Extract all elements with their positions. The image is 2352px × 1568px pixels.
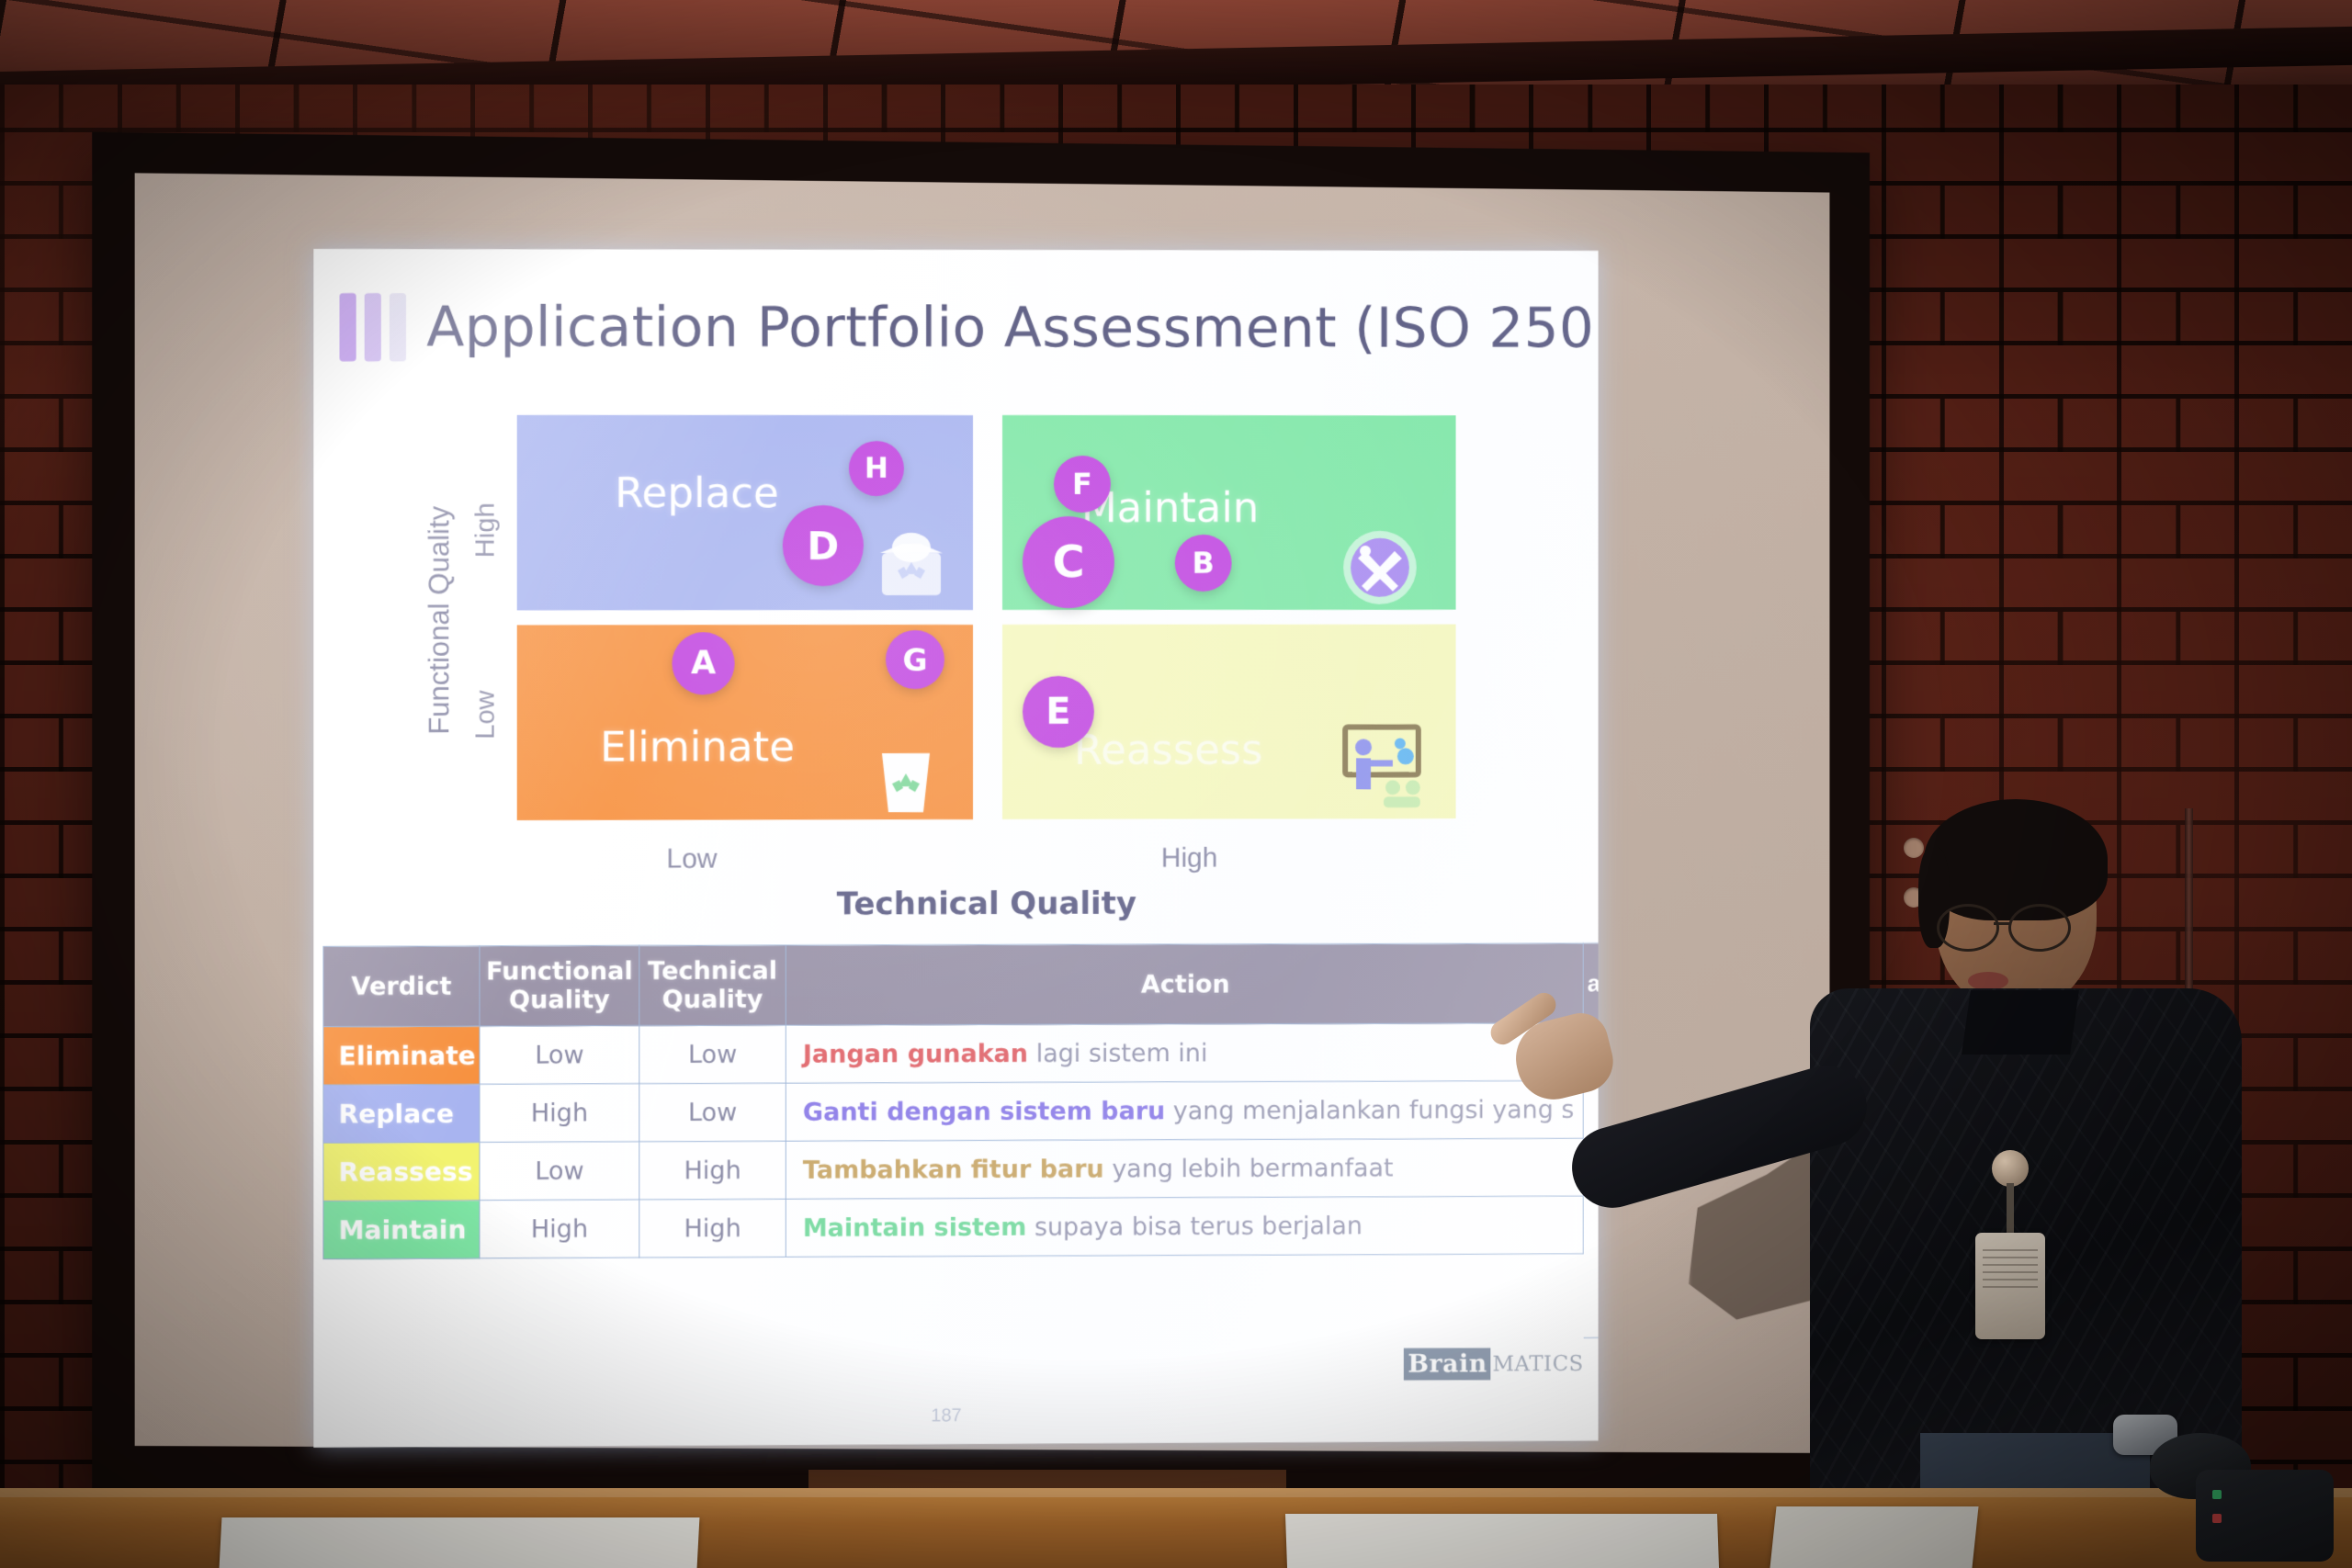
table-row: Reassess Low High Tambahkan fitur baru y… [323,1138,1583,1201]
id-badge [1975,1233,2045,1339]
presenter-hair [1924,799,2108,920]
presenter-collar [1962,990,2079,1055]
quadrant-label-replace: Replace [615,468,779,517]
cell-technical: Low [639,1083,786,1142]
tools-icon [1341,529,1419,606]
col-header-technical-quality: Technical Quality [639,945,786,1026]
portfolio-matrix: Functional Quality High Low Replace H D [517,415,1454,829]
cell-technical: Low [639,1025,786,1084]
cell-action: Maintain sistem supaya bisa terus berjal… [786,1196,1583,1257]
y-axis-tick-high: High [465,452,505,609]
x-axis-ticks: Low High [517,842,1454,844]
paper-sheet [220,1517,700,1568]
y-axis-tick-low: Low [465,645,505,783]
quadrant-label-eliminate: Eliminate [600,722,795,771]
cell-action: Ganti dengan sistem baru yang menjalanka… [786,1080,1583,1141]
quadrant-reassess[interactable]: Reassess E [1002,625,1456,819]
quadrant-label-reassess: Reassess [1074,726,1263,774]
x-axis-tick-low: Low [666,844,717,875]
presentation-slide[interactable]: Application Portfolio Assessment (ISO 25… [313,249,1598,1448]
presenter-mouth [1968,972,2008,990]
projection-screen-surface: Application Portfolio Assessment (ISO 25… [135,173,1830,1453]
cell-action: Tambahkan fitur baru yang lebih bermanfa… [786,1138,1583,1199]
col-header-functional-quality: Functional Quality [480,945,639,1026]
cell-technical: High [639,1199,786,1258]
logo-bars-icon [340,293,406,361]
x-axis-tick-high: High [1161,843,1218,874]
brainmatics-logo: Brain MATICS [1404,1348,1583,1381]
cell-technical: High [639,1141,786,1200]
presenter [1828,808,2214,1470]
glasses-icon [1937,904,2091,946]
slide-page-number: 187 [313,1403,1574,1430]
quadrant-replace[interactable]: Replace H D [517,415,973,611]
brand-part-2: MATICS [1493,1351,1584,1375]
paper-sheet [1285,1514,1719,1568]
paper-sheet [1770,1506,1978,1568]
cell-verdict: Replace [323,1084,480,1143]
recycle-box-icon [875,527,948,597]
bubble-G[interactable]: G [886,630,944,689]
cell-functional: High [480,1200,639,1258]
table-row: Replace High Low Ganti dengan sistem bar… [323,1080,1583,1143]
badge-strap [2007,1183,2014,1235]
bubble-D[interactable]: D [783,505,864,586]
quadrant-eliminate[interactable]: Eliminate A G [517,625,973,820]
bubble-C[interactable]: C [1023,516,1114,608]
projection-screen-frame: Application Portfolio Assessment (ISO 25… [92,132,1870,1501]
cell-functional: Low [480,1142,639,1201]
screenshot-scene: Application Portfolio Assessment (ISO 25… [0,0,2352,1568]
brand-part-1: Brain [1404,1348,1490,1380]
x-axis-title: Technical Quality [517,885,1454,923]
col-header-action: Action [786,943,1583,1025]
bubble-H[interactable]: H [849,441,904,496]
bubble-A[interactable]: A [672,632,734,694]
table-row: Maintain High High Maintain sistem supay… [323,1196,1583,1259]
quadrant-maintain[interactable]: Maintain F C B [1002,415,1456,610]
verdict-table: Verdict Functional Quality Technical Qua… [322,942,1583,1259]
table-header-row: Verdict Functional Quality Technical Qua… [323,943,1583,1027]
page-title: Application Portfolio Assessment (ISO 25… [426,295,1598,360]
recycle-bin-icon [875,748,937,816]
cell-action: Jangan gunakan lagi sistem ini [786,1023,1583,1084]
bubble-B[interactable]: B [1175,535,1232,592]
table-body: Eliminate Low Low Jangan gunakan lagi si… [323,1023,1583,1259]
badge-reel [1992,1150,2029,1187]
quadrant-label-maintain: Maintain [1081,483,1259,532]
conference-phone [2196,1470,2334,1562]
presentation-icon [1329,723,1422,807]
cell-functional: High [480,1084,639,1143]
slide-header: Application Portfolio Assessment (ISO 25… [313,276,1598,379]
bubble-E[interactable]: E [1023,676,1094,748]
bubble-F[interactable]: F [1054,456,1111,513]
cell-verdict: Eliminate [323,1026,480,1085]
col-header-verdict: Verdict [323,946,480,1027]
col-header-nama-partial: ama [1584,943,1599,1022]
y-axis-title: Functional Quality [417,441,461,800]
cell-verdict: Reassess [323,1142,480,1201]
cell-verdict: Maintain [323,1201,480,1259]
table-row: Eliminate Low Low Jangan gunakan lagi si… [323,1023,1583,1085]
cell-functional: Low [480,1026,639,1085]
